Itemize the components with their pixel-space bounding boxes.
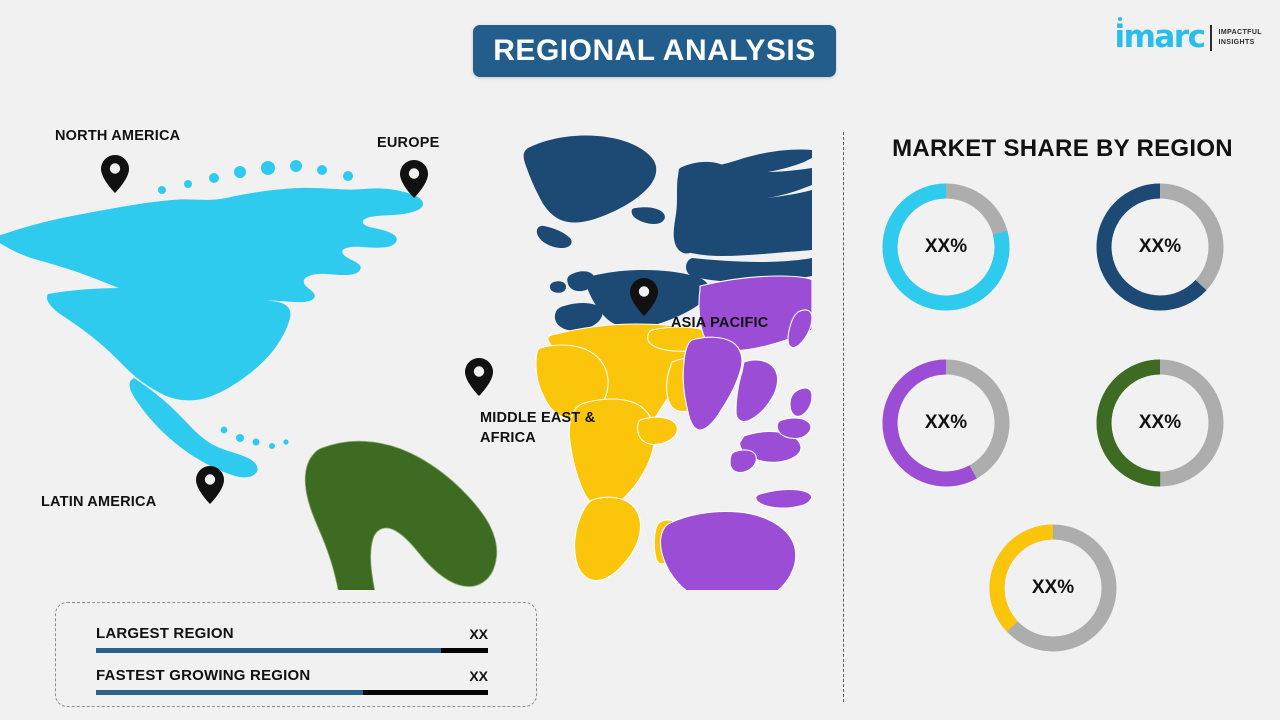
map-pin-north-america[interactable] [101,155,129,193]
market-share-title: MARKET SHARE BY REGION [845,135,1280,163]
region-label-asia-pacific: ASIA PACIFIC [671,314,768,334]
logo-wordmark: imarc [1114,22,1204,53]
legend-value-largest-region: XX [469,626,488,642]
map-pin-asia-pacific[interactable] [630,278,658,316]
world-map-panel: NORTH AMERICA EUROPE ASIA PACIFIC MIDDLE… [0,90,830,610]
page-title: REGIONAL ANALYSIS [493,34,815,68]
legend-bar-fastest-growing-region [96,690,488,695]
donut-value-europe: XX% [1090,177,1230,317]
donut-value-north-america: XX% [876,177,1016,317]
legend-bar-fill-largest-region [96,648,441,653]
map-region-greenland [524,136,665,249]
map-region-north-america [0,160,462,477]
logo-divider [1210,25,1212,51]
legend-bar-largest-region [96,648,488,653]
legend-row-fastest-growing-region: FASTEST GROWING REGION XX [96,667,496,695]
donut-north-america: XX% [876,177,1016,317]
page-title-badge: REGIONAL ANALYSIS [473,25,836,77]
legend-value-fastest-growing-region: XX [469,668,488,684]
region-label-middle-east-africa: MIDDLE EAST & AFRICA [480,409,595,448]
logo-word-text: imarc [1114,19,1204,55]
donut-middle-east-africa: XX% [983,518,1123,658]
map-region-latin-america [305,441,497,590]
logo-tagline-line2: INSIGHTS [1218,38,1262,47]
donut-value-asia-pacific: XX% [876,353,1016,493]
panel-divider [843,132,844,702]
donut-asia-pacific: XX% [876,353,1016,493]
imarc-logo: imarc IMPACTFUL INSIGHTS [1114,22,1262,53]
region-label-latin-america: LATIN AMERICA [41,493,156,513]
map-pin-europe[interactable] [400,160,428,198]
map-pin-latin-america[interactable] [196,466,224,504]
logo-tagline-line1: IMPACTFUL [1218,28,1262,37]
region-label-north-america: NORTH AMERICA [55,127,180,147]
legend-label-largest-region: LARGEST REGION [96,625,234,642]
logo-tagline: IMPACTFUL INSIGHTS [1218,28,1262,47]
donut-europe: XX% [1090,177,1230,317]
legend-bar-fill-fastest-growing-region [96,690,363,695]
region-summary-box: LARGEST REGION XX FASTEST GROWING REGION… [55,602,537,707]
donut-latin-america: XX% [1090,353,1230,493]
region-label-europe: EUROPE [377,134,439,154]
map-pin-middle-east-africa[interactable] [465,358,493,396]
legend-label-fastest-growing-region: FASTEST GROWING REGION [96,667,310,684]
donut-value-middle-east-africa: XX% [983,518,1123,658]
legend-row-largest-region: LARGEST REGION XX [96,625,496,653]
donut-value-latin-america: XX% [1090,353,1230,493]
